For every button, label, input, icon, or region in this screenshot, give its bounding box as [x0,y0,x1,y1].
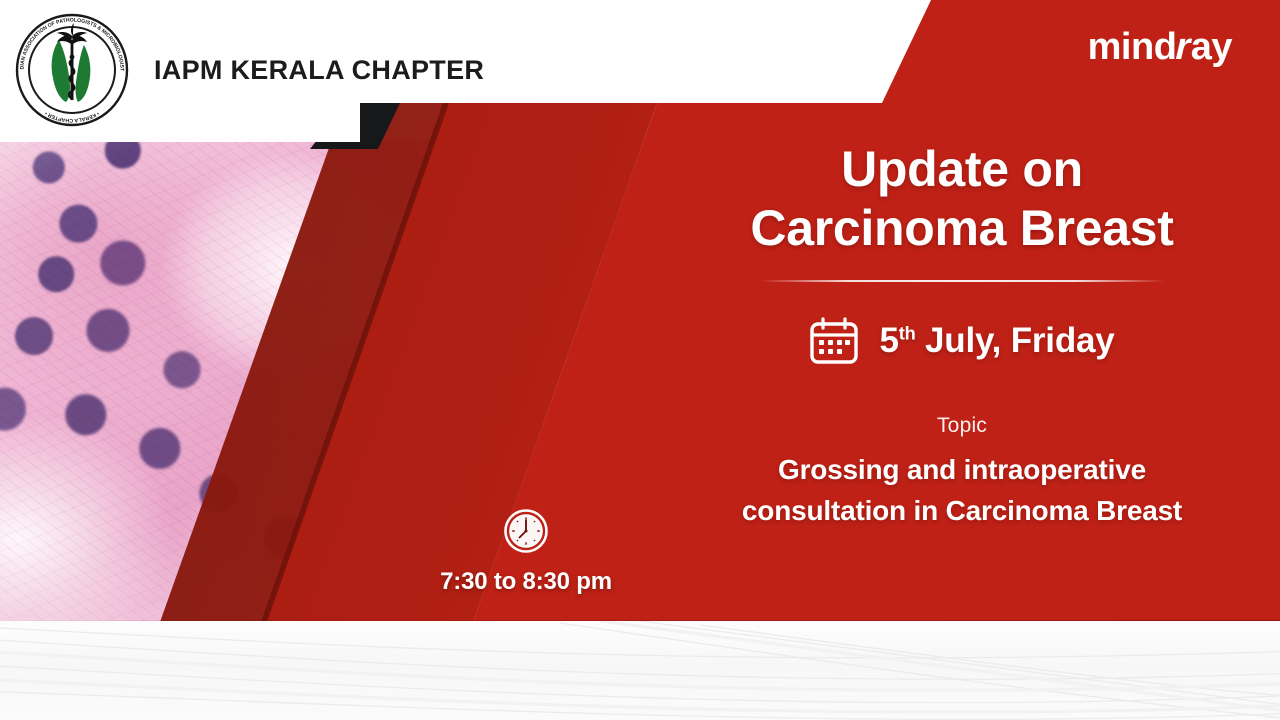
topic-line-1: Grossing and intraoperative [778,454,1146,485]
event-date-suffix: th [899,323,916,343]
event-banner: INDIAN ASSOCIATION OF PATHOLOGISTS & MIC… [0,0,1280,720]
mindray-logo: mindray [1088,28,1232,66]
mindray-logo-part1: mind [1088,26,1177,68]
title-line-1: Update on [841,141,1083,197]
page-title: Update on Carcinoma Breast [662,140,1262,258]
clock-icon [503,508,549,554]
event-date-text: 5th July, Friday [879,321,1114,361]
bottom-wave-lines [0,621,1280,720]
calendar-icon [809,316,859,366]
mindray-logo-part3: ay [1191,26,1232,68]
topic-line-2: consultation in Carcinoma Breast [742,495,1182,526]
event-date-rest: July, Friday [916,321,1115,360]
main-content: Update on Carcinoma Breast [662,140,1262,531]
bottom-wave-band [0,621,1280,720]
event-date-day: 5 [879,321,898,360]
organisation-name: IAPM KERALA CHAPTER [154,55,484,86]
title-line-2: Carcinoma Breast [750,200,1173,256]
event-time-text: 7:30 to 8:30 pm [426,568,626,596]
event-date: 5th July, Friday [662,316,1262,366]
topic-text: Grossing and intraoperative consultation… [662,450,1262,531]
iapm-circular-emblem-icon: INDIAN ASSOCIATION OF PATHOLOGISTS & MIC… [14,12,130,128]
event-time: 7:30 to 8:30 pm [426,508,626,596]
organisation-branding: INDIAN ASSOCIATION OF PATHOLOGISTS & MIC… [14,12,484,128]
topic-label: Topic [662,414,1262,438]
title-divider [760,280,1165,282]
